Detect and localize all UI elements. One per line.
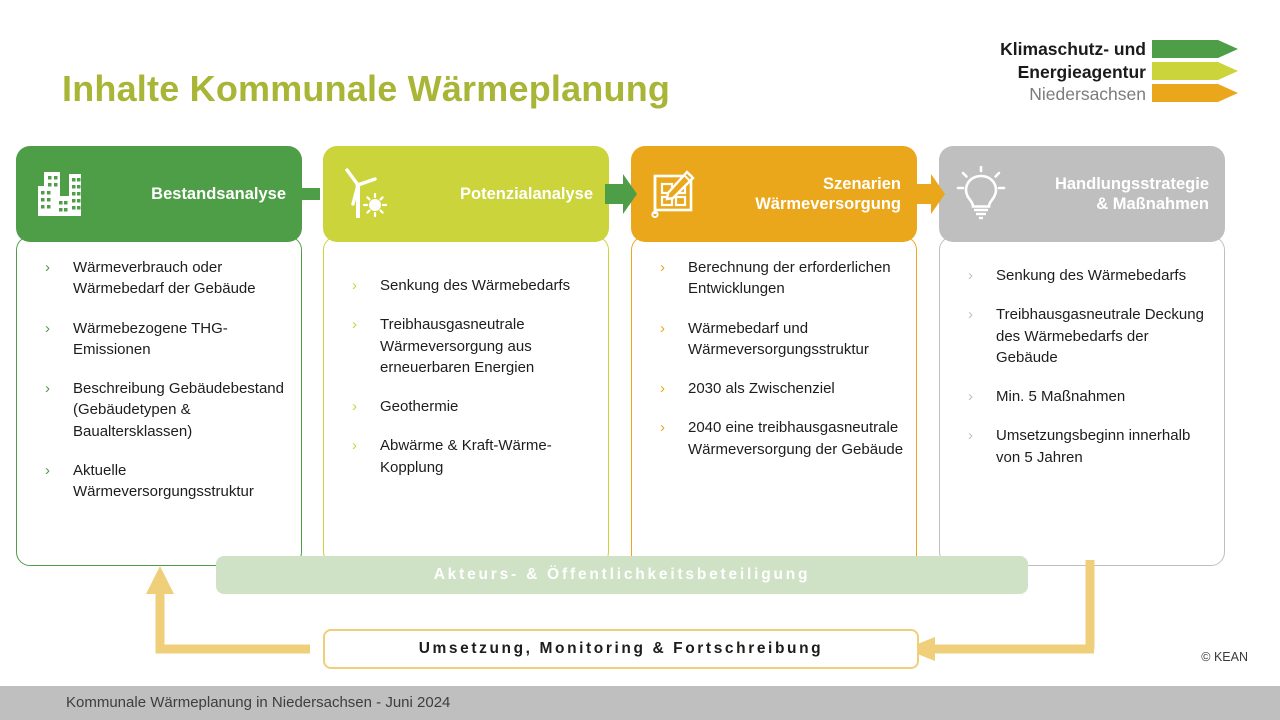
stage-header-szenarien[interactable]: SzenarienWärmeversorgung (631, 146, 917, 242)
stage-bestandsanalyse[interactable]: Bestandsanalyse ›Wärmeverbrauch oder Wär… (16, 146, 302, 242)
chevron-right-icon: › (660, 378, 665, 399)
logo-line-3: Niedersachsen (986, 83, 1146, 106)
logo-line-2: Energieagentur (986, 61, 1146, 84)
logo-wordmark: Klimaschutz- und Energieagentur Niedersa… (986, 38, 1146, 106)
stage-header-potenzialanalyse[interactable]: Potenzialanalyse (323, 146, 609, 242)
stage-header-handlungsstrategie[interactable]: Handlungsstrategie& Maßnahmen (939, 146, 1225, 242)
chevron-right-icon: › (45, 318, 50, 339)
implementation-bar-label: Umsetzung, Monitoring & Fortschreibung (419, 640, 823, 658)
list-item-text: 2040 eine treibhausgasneutrale Wärmevers… (688, 419, 903, 457)
list-item-text: Berechnung der erforderlichen Entwicklun… (688, 259, 891, 297)
chevron-right-icon: › (352, 275, 357, 296)
list-item-text: Treibhausgasneutrale Deckung des Wärmebe… (996, 306, 1204, 366)
logo-arrow-amber-icon (1152, 84, 1238, 102)
list-item-text: Senkung des Wärmebedarfs (996, 267, 1186, 284)
logo-arrow-green-icon (1152, 40, 1238, 58)
stage-title-line-1: Szenarien (823, 175, 901, 193)
stage-body-szenarien: ›Berechnung der erforderlichen Entwicklu… (631, 236, 917, 586)
chevron-right-icon: › (660, 257, 665, 278)
bullet-list: ›Senkung des Wärmebedarfs ›Treibhausgasn… (952, 265, 1212, 468)
chevron-right-icon: › (45, 378, 50, 399)
chevron-right-icon: › (352, 435, 357, 456)
list-item-text: Wärmebedarf und Wärmeversorgungsstruktur (688, 320, 869, 358)
list-item: ›Umsetzungsbeginn innerhalb von 5 Jahren (952, 425, 1212, 468)
logo-arrow-group (1152, 40, 1238, 106)
list-item-text: Treibhausgasneutrale Wärmeversorgung aus… (380, 316, 534, 376)
list-item-text: Aktuelle Wärmeversorgungsstruktur (73, 462, 254, 500)
chevron-right-icon: › (968, 386, 973, 407)
kean-logo: Klimaschutz- und Energieagentur Niedersa… (1000, 38, 1238, 116)
blueprint-pencil-icon (647, 166, 699, 222)
list-item: ›2030 als Zwischenziel (644, 378, 904, 399)
list-item: ›2040 eine treibhausgasneutrale Wärmever… (644, 417, 904, 460)
list-item-text: 2030 als Zwischenziel (688, 380, 835, 397)
list-item-text: Geothermie (380, 398, 458, 415)
list-item: ›Abwärme & Kraft-Wärme-Kopplung (336, 435, 596, 478)
bullet-list: ›Senkung des Wärmebedarfs ›Treibhausgasn… (336, 275, 596, 478)
buildings-icon (32, 166, 84, 222)
chevron-right-icon: › (660, 417, 665, 438)
participation-bar[interactable]: Akteurs- & Öffentlichkeitsbeteiligung (216, 556, 1028, 594)
stage-szenarien-waermeversorgung[interactable]: SzenarienWärmeversorgung ›Berechnung der… (631, 146, 917, 242)
list-item: ›Berechnung der erforderlichen Entwicklu… (644, 257, 904, 300)
list-item: ›Treibhausgasneutrale Wärmeversorgung au… (336, 314, 596, 378)
stage-title-line-2: Wärmeversorgung (755, 195, 901, 213)
list-item: ›Wärmebedarf und Wärmeversorgungsstruktu… (644, 318, 904, 361)
stage-title-text: Potenzialanalyse (460, 184, 593, 204)
participation-bar-label: Akteurs- & Öffentlichkeitsbeteiligung (434, 566, 811, 584)
chevron-right-icon: › (352, 314, 357, 335)
stage-header-bestandsanalyse[interactable]: Bestandsanalyse (16, 146, 302, 242)
list-item-text: Min. 5 Maßnahmen (996, 388, 1125, 405)
stage-body-bestandsanalyse: ›Wärmeverbrauch oder Wärmebedarf der Geb… (16, 236, 302, 566)
list-item-text: Wärmeverbrauch oder Wärmebedarf der Gebä… (73, 259, 256, 297)
chevron-right-icon: › (45, 460, 50, 481)
list-item: ›Min. 5 Maßnahmen (952, 386, 1212, 407)
bullet-list: ›Wärmeverbrauch oder Wärmebedarf der Geb… (29, 257, 289, 503)
stage-body-handlungsstrategie: ›Senkung des Wärmebedarfs ›Treibhausgasn… (939, 236, 1225, 566)
chevron-right-icon: › (660, 318, 665, 339)
stage-potenzialanalyse[interactable]: Potenzialanalyse ›Senkung des Wärmebedar… (323, 146, 609, 242)
stage-title-text: Handlungsstrategie& Maßnahmen (1055, 174, 1209, 214)
list-item: ›Treibhausgasneutrale Deckung des Wärmeb… (952, 304, 1212, 368)
list-item-text: Umsetzungsbeginn innerhalb von 5 Jahren (996, 427, 1190, 465)
list-item-text: Senkung des Wärmebedarfs (380, 277, 570, 294)
implementation-bar[interactable]: Umsetzung, Monitoring & Fortschreibung (323, 629, 919, 669)
stage-title-text: Bestandsanalyse (151, 184, 286, 204)
arrow-col1-to-col2-icon (300, 176, 326, 212)
chevron-right-icon: › (968, 265, 973, 286)
stage-handlungsstrategie[interactable]: Handlungsstrategie& Maßnahmen ›Senkung d… (939, 146, 1225, 242)
bullet-list: ›Berechnung der erforderlichen Entwicklu… (644, 257, 904, 460)
chevron-right-icon: › (968, 425, 973, 446)
lightbulb-icon (955, 166, 1007, 222)
list-item: ›Aktuelle Wärmeversorgungsstruktur (29, 460, 289, 503)
page-title: Inhalte Kommunale Wärmeplanung (62, 68, 670, 110)
stage-body-potenzialanalyse: ›Senkung des Wärmebedarfs ›Treibhausgasn… (323, 236, 609, 566)
chevron-right-icon: › (352, 396, 357, 417)
list-item-text: Abwärme & Kraft-Wärme-Kopplung (380, 437, 552, 475)
stage-title-line-2: & Maßnahmen (1096, 195, 1209, 213)
logo-arrow-yellowgreen-icon (1152, 62, 1238, 80)
slide-canvas: Inhalte Kommunale Wärmeplanung Klimaschu… (0, 0, 1280, 720)
copyright-text: © KEAN (1201, 650, 1248, 664)
list-item: ›Senkung des Wärmebedarfs (952, 265, 1212, 286)
list-item: ›Geothermie (336, 396, 596, 417)
stage-title-text: SzenarienWärmeversorgung (755, 174, 901, 214)
list-item-text: Beschreibung Gebäudebestand (Gebäudetype… (73, 380, 284, 440)
arrow-col2-to-col3-icon (605, 168, 637, 220)
list-item-text: Wärmebezogene THG-Emissionen (73, 320, 228, 358)
arrow-col3-to-col4-icon (913, 168, 945, 220)
list-item: ›Wärmeverbrauch oder Wärmebedarf der Geb… (29, 257, 289, 300)
list-item: ›Beschreibung Gebäudebestand (Gebäudetyp… (29, 378, 289, 442)
list-item: ›Wärmebezogene THG-Emissionen (29, 318, 289, 361)
logo-line-1: Klimaschutz- und (986, 38, 1146, 61)
stage-title-line-1: Handlungsstrategie (1055, 175, 1209, 193)
chevron-right-icon: › (968, 304, 973, 325)
footer-text: Kommunale Wärmeplanung in Niedersachsen … (66, 694, 450, 711)
chevron-right-icon: › (45, 257, 50, 278)
wind-turbine-sun-icon (339, 166, 391, 222)
list-item: ›Senkung des Wärmebedarfs (336, 275, 596, 296)
